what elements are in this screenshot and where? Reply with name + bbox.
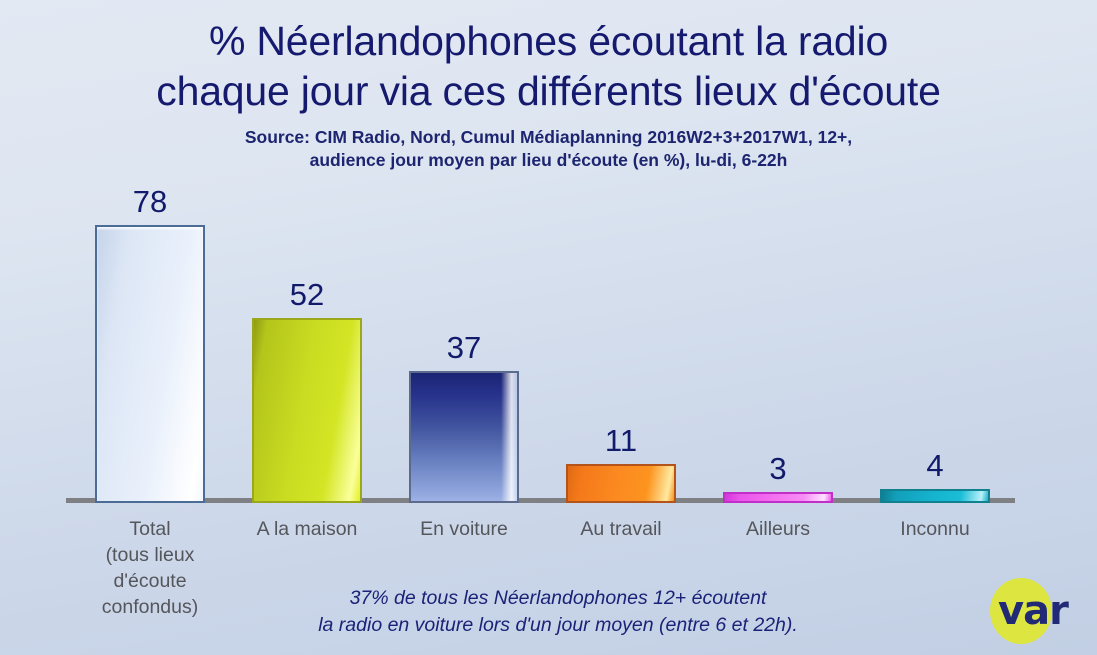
bar[interactable] (723, 492, 833, 503)
category-label: A la maison (217, 516, 397, 542)
category-label-line: Ailleurs (688, 516, 868, 542)
bar[interactable] (252, 318, 362, 503)
category-label-line: Au travail (531, 516, 711, 542)
bar-group: 52 (252, 152, 362, 655)
bar-value-label: 37 (389, 331, 539, 365)
bar[interactable] (880, 489, 990, 503)
bar-value-label: 78 (75, 185, 225, 219)
category-label-line: En voiture (374, 516, 554, 542)
category-label: Inconnu (845, 516, 1025, 542)
category-label: Ailleurs (688, 516, 868, 542)
bar-group: 4 (880, 152, 990, 655)
category-label-line: Inconnu (845, 516, 1025, 542)
bar-group: 37 (409, 152, 519, 655)
category-label-line: A la maison (217, 516, 397, 542)
bar[interactable] (566, 464, 676, 503)
bar-group: 3 (723, 152, 833, 655)
bar-value-label: 11 (546, 424, 696, 458)
bar-value-label: 3 (703, 452, 853, 486)
bar[interactable] (409, 371, 519, 503)
chart-slide: % Néerlandophones écoutant la radio chaq… (0, 0, 1097, 655)
bar-chart-plot-area: 78Total(tous lieuxd'écouteconfondus)52A … (0, 0, 1097, 655)
var-logo: var (990, 578, 1078, 644)
caption-line-1: 37% de tous les Néerlandophones 12+ écou… (148, 585, 968, 612)
logo-wordmark: var (998, 590, 1068, 632)
bar-value-label: 52 (232, 278, 382, 312)
caption-line-2: la radio en voiture lors d'un jour moyen… (148, 612, 968, 639)
bar-group: 11 (566, 152, 676, 655)
bar[interactable] (95, 225, 205, 503)
category-label: En voiture (374, 516, 554, 542)
category-label-line: (tous lieux (60, 542, 240, 568)
x-axis-line (66, 498, 1015, 503)
chart-caption: 37% de tous les Néerlandophones 12+ écou… (148, 585, 968, 639)
category-label: Au travail (531, 516, 711, 542)
category-label-line: Total (60, 516, 240, 542)
bar-value-label: 4 (860, 449, 1010, 483)
